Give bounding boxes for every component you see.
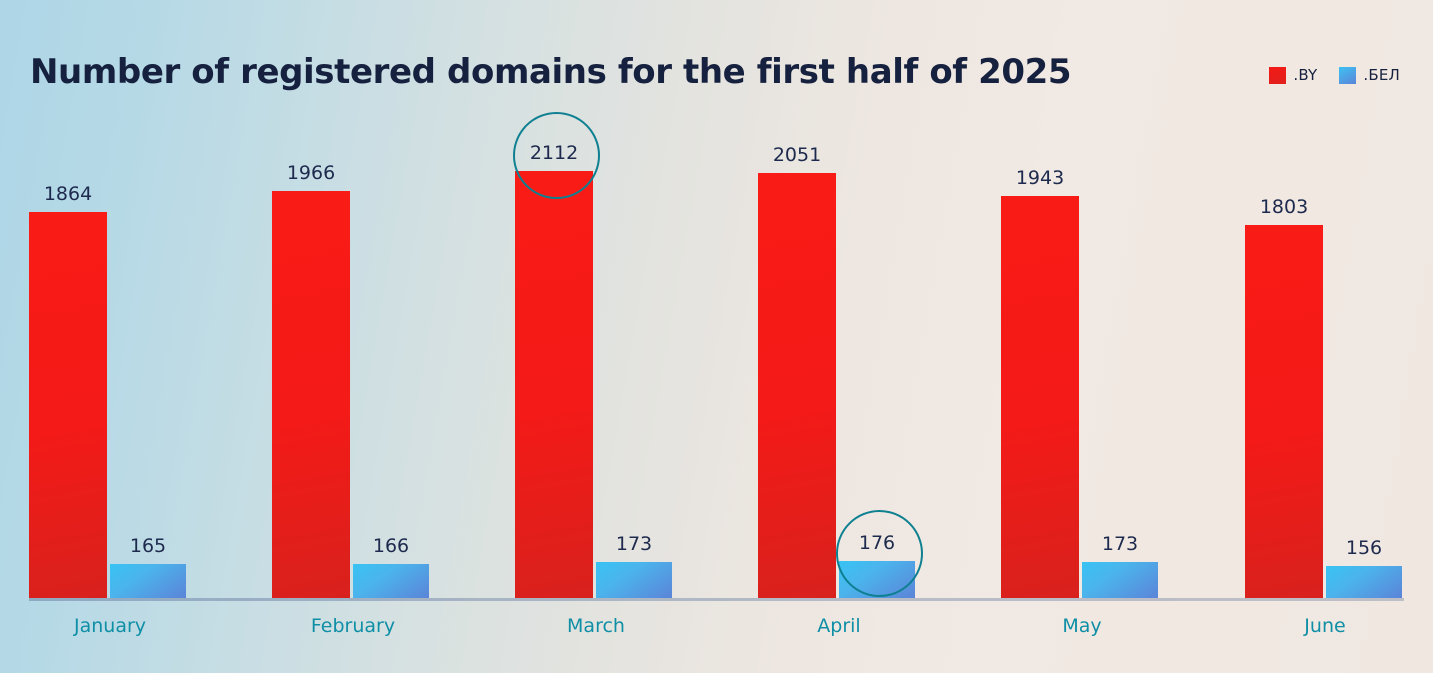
xaxis-label-january: January <box>74 615 146 637</box>
xaxis-label-february: February <box>311 615 395 637</box>
bar-bel-march[interactable]: 173 <box>596 562 672 598</box>
bar-value-bel-may: 173 <box>1102 533 1138 555</box>
xaxis-label-june: June <box>1304 615 1345 637</box>
bar-by-april[interactable]: 2051 <box>758 173 836 598</box>
bar-value-bel-march: 173 <box>616 533 652 555</box>
bar-by-june[interactable]: 1803 <box>1245 225 1323 598</box>
bar-value-by-may: 1943 <box>1016 167 1064 189</box>
bar-value-bel-january: 165 <box>130 535 166 557</box>
bar-value-bel-june: 156 <box>1346 537 1382 559</box>
bar-value-bel-february: 166 <box>373 535 409 557</box>
axis-baseline <box>29 598 1404 601</box>
bar-bel-june[interactable]: 156 <box>1326 566 1402 598</box>
bar-value-by-june: 1803 <box>1260 196 1308 218</box>
bar-by-january[interactable]: 1864 <box>29 212 107 598</box>
bar-value-by-april: 2051 <box>773 144 821 166</box>
bar-bel-january[interactable]: 165 <box>110 564 186 598</box>
bar-by-may[interactable]: 1943 <box>1001 196 1079 598</box>
bar-value-by-february: 1966 <box>287 162 335 184</box>
bar-value-bel-april: 176 <box>859 532 895 554</box>
xaxis-label-april: April <box>817 615 860 637</box>
bar-by-february[interactable]: 1966 <box>272 191 350 598</box>
xaxis-label-may: May <box>1062 615 1101 637</box>
infographic-root: Number of registered domains for the fir… <box>0 0 1433 673</box>
bar-bel-february[interactable]: 166 <box>353 564 429 598</box>
bar-by-march[interactable]: 2112 <box>515 171 593 598</box>
bar-bel-may[interactable]: 173 <box>1082 562 1158 598</box>
bar-bel-april[interactable]: 176 <box>839 561 915 598</box>
chart-plot-area: 1864 165 1966 166 2112 173 <box>0 0 1433 673</box>
bar-value-by-march: 2112 <box>530 142 578 164</box>
xaxis-label-march: March <box>567 615 625 637</box>
bar-value-by-january: 1864 <box>44 183 92 205</box>
